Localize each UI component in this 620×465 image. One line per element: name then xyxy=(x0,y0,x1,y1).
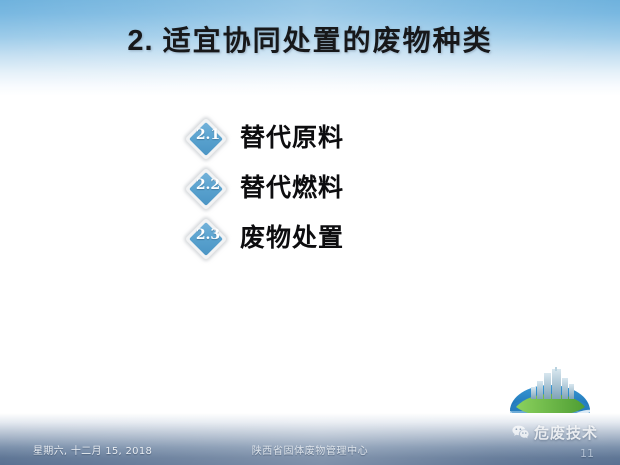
page-title: 2. 适宜协同处置的废物种类 xyxy=(0,21,620,61)
diamond-badge-icon: 2.2 xyxy=(186,172,230,206)
presentation-slide: 2. 适宜协同处置的废物种类 2.1 替代原料 2.2 替代燃料 xyxy=(0,0,620,465)
diamond-badge-icon: 2.1 xyxy=(186,122,230,156)
list-item[interactable]: 2.1 替代原料 xyxy=(186,118,566,168)
diamond-badge-shape xyxy=(189,222,223,256)
diamond-badge-shape xyxy=(189,122,223,156)
list-item[interactable]: 2.2 替代燃料 xyxy=(186,168,566,218)
diamond-badge-shape xyxy=(189,172,223,206)
list-item-label: 废物处置 xyxy=(240,218,344,258)
bullet-list: 2.1 替代原料 2.2 替代燃料 2.3 废物处置 xyxy=(186,118,566,268)
list-item-label: 替代燃料 xyxy=(240,168,344,208)
diamond-badge-icon: 2.3 xyxy=(186,222,230,256)
title-text: 适宜协同处置的废物种类 xyxy=(163,24,493,57)
list-item[interactable]: 2.3 废物处置 xyxy=(186,218,566,268)
title-number: 2. xyxy=(127,25,153,57)
list-item-label: 替代原料 xyxy=(240,118,344,158)
footer-gradient-band xyxy=(0,413,620,465)
footer-organization: 陕西省固体废物管理中心 xyxy=(0,442,620,457)
page-number: 11 xyxy=(580,447,594,460)
